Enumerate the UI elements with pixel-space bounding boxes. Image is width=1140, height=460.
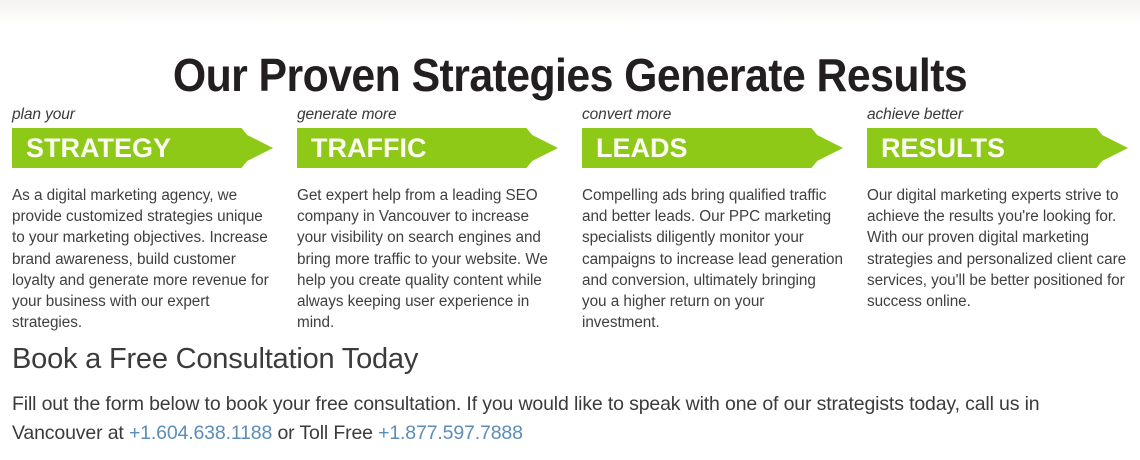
page-title: Our Proven Strategies Generate Results — [40, 47, 1100, 103]
consultation-text-between: or Toll Free — [272, 422, 378, 444]
consultation-title: Book a Free Consultation Today — [12, 340, 1128, 378]
arrow-banner-leads: LEADS — [582, 128, 843, 168]
local-phone-link[interactable]: +1.604.638.1188 — [129, 422, 272, 444]
consultation-section: Book a Free Consultation Today Fill out … — [12, 340, 1128, 448]
strategy-column-leads: convert more LEADS Compelling ads bring … — [570, 106, 855, 333]
arrow-banner-strategy: STRATEGY — [12, 128, 273, 168]
strategy-column-results: achieve better RESULTS Our digital marke… — [855, 106, 1140, 312]
column-body-text: As a digital marketing agency, we provid… — [12, 185, 273, 333]
column-body-text: Our digital marketing experts strive to … — [867, 185, 1128, 312]
toll-free-phone-link[interactable]: +1.877.597.7888 — [378, 422, 523, 444]
column-eyebrow: convert more — [582, 106, 843, 124]
strategy-column-traffic: generate more TRAFFIC Get expert help fr… — [285, 106, 570, 333]
arrow-banner-traffic: TRAFFIC — [297, 128, 558, 168]
column-eyebrow: plan your — [12, 106, 273, 124]
column-eyebrow: achieve better — [867, 106, 1128, 124]
strategy-columns: plan your STRATEGY As a digital marketin… — [0, 106, 1140, 333]
consultation-text: Fill out the form below to book your fre… — [12, 390, 1128, 448]
page-root: Our Proven Strategies Generate Results p… — [0, 0, 1140, 460]
arrow-banner-shape — [297, 128, 558, 168]
column-body-text: Get expert help from a leading SEO compa… — [297, 185, 558, 333]
arrow-banner-results: RESULTS — [867, 128, 1128, 168]
arrow-banner-shape — [12, 128, 273, 168]
column-eyebrow: generate more — [297, 106, 558, 124]
arrow-banner-shape — [582, 128, 843, 168]
column-body-text: Compelling ads bring qualified traffic a… — [582, 185, 843, 333]
strategy-column-strategy: plan your STRATEGY As a digital marketin… — [0, 106, 285, 333]
arrow-banner-shape — [867, 128, 1128, 168]
